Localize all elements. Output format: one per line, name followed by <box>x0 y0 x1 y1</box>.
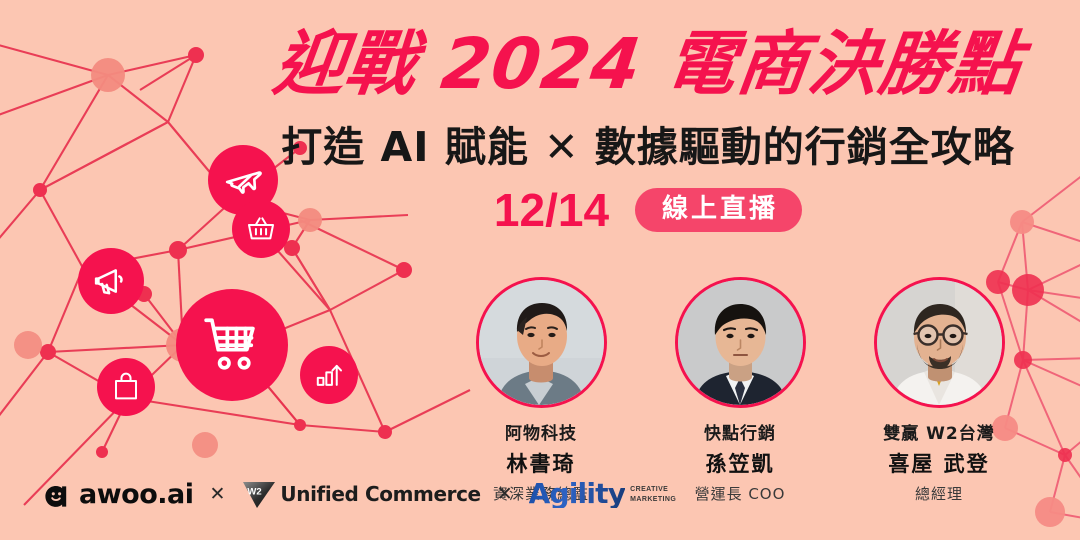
speaker-portrait-kiya-takato <box>874 277 1005 408</box>
shopping-cart-icon <box>176 289 288 401</box>
awoo-smiley-icon <box>42 479 72 509</box>
svg-text:W2: W2 <box>248 487 262 498</box>
w2-mark-icon: W2 <box>241 478 277 510</box>
agility-tagline-line2: MARKETING <box>630 496 676 503</box>
logo-separator-icon: ✕ <box>497 485 513 504</box>
speaker-company: 快點行銷 <box>654 419 826 444</box>
agility-tagline: CREATIVE MARKETING <box>630 480 676 505</box>
speaker-portrait-sun-li-kai <box>675 277 806 408</box>
speaker-title: 總經理 <box>853 483 1025 504</box>
speaker-name: 孫笠凱 <box>654 448 826 478</box>
speaker-card: 阿物科技 林書琦 資深業務總監 <box>455 277 627 504</box>
agility-logo: Agility CREATIVE MARKETING <box>529 480 677 508</box>
awoo-logo-text: awoo.ai <box>79 481 194 508</box>
speaker-name: 林書琦 <box>455 448 627 478</box>
bar-chart-icon <box>300 346 358 404</box>
speaker-company: 雙贏 W2台灣 <box>853 419 1025 444</box>
speaker-title: 營運長 COO <box>654 483 826 504</box>
agility-tagline-line1: CREATIVE <box>630 486 668 493</box>
partner-logo-bar: awoo.ai ✕ W2 Unified Commerce ✕ Agility <box>42 478 676 510</box>
w2-logo: W2 Unified Commerce <box>241 478 480 510</box>
headline-block: 迎戰 2024 電商決勝點 打造 AI 賦能 ✕ 數據驅動的行銷全攻略 12/1… <box>268 28 1028 233</box>
speaker-card: 快點行銷 孫笠凱 營運長 COO <box>654 277 826 504</box>
event-date: 12/14 <box>494 187 609 233</box>
logo-separator-icon: ✕ <box>210 485 226 504</box>
promo-banner: 迎戰 2024 電商決勝點 打造 AI 賦能 ✕ 數據驅動的行銷全攻略 12/1… <box>0 0 1080 540</box>
status-badge: 線上直播 <box>635 188 802 232</box>
page-subtitle: 打造 AI 賦能 ✕ 數據驅動的行銷全攻略 <box>268 113 1028 173</box>
speaker-portrait-lin-shu-chi <box>476 277 607 408</box>
awoo-logo: awoo.ai <box>42 479 194 509</box>
speaker-company: 阿物科技 <box>455 419 627 444</box>
speaker-list: 阿物科技 林書琦 資深業務總監 <box>455 277 1025 504</box>
shopping-bag-icon <box>97 358 155 416</box>
page-title: 迎戰 2024 電商決勝點 <box>264 28 1033 101</box>
megaphone-icon <box>78 248 144 314</box>
agility-logo-text: Agility <box>529 480 626 508</box>
speaker-name: 喜屋 武登 <box>853 448 1025 478</box>
speaker-card: 雙贏 W2台灣 喜屋 武登 總經理 <box>853 277 1025 504</box>
date-row: 12/14 線上直播 <box>268 187 1028 233</box>
w2-logo-text: Unified Commerce <box>280 484 480 504</box>
